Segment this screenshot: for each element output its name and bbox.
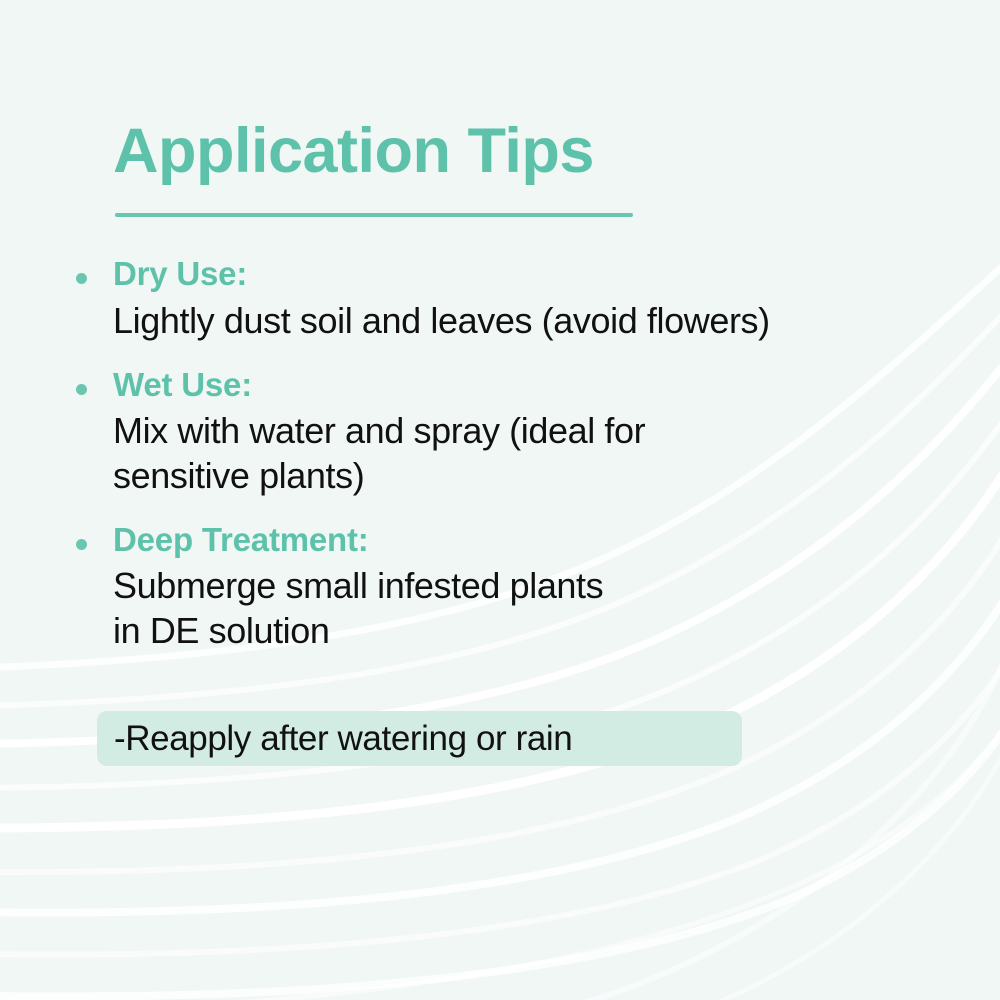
title-underline-rule (115, 213, 633, 217)
list-item: Wet Use: Mix with water and spray (ideal… (0, 363, 1000, 498)
tip-body: Submerge small infested plants in DE sol… (113, 564, 1000, 653)
tip-label: Deep Treatment: (113, 518, 1000, 563)
tip-body: Mix with water and spray (ideal for sens… (113, 409, 1000, 498)
bullet-dot-icon (76, 273, 87, 284)
tip-label: Dry Use: (113, 252, 1000, 297)
application-tips-card: Application Tips Dry Use: Lightly dust s… (0, 0, 1000, 1000)
tips-list: Dry Use: Lightly dust soil and leaves (a… (0, 252, 1000, 673)
note-text: -Reapply after watering or rain (114, 714, 572, 764)
list-item: Dry Use: Lightly dust soil and leaves (a… (0, 252, 1000, 343)
list-item: Deep Treatment: Submerge small infested … (0, 518, 1000, 653)
bullet-dot-icon (76, 384, 87, 395)
bullet-dot-icon (76, 539, 87, 550)
tip-label: Wet Use: (113, 363, 1000, 408)
tip-body: Lightly dust soil and leaves (avoid flow… (113, 299, 1000, 343)
page-title: Application Tips (113, 116, 594, 187)
